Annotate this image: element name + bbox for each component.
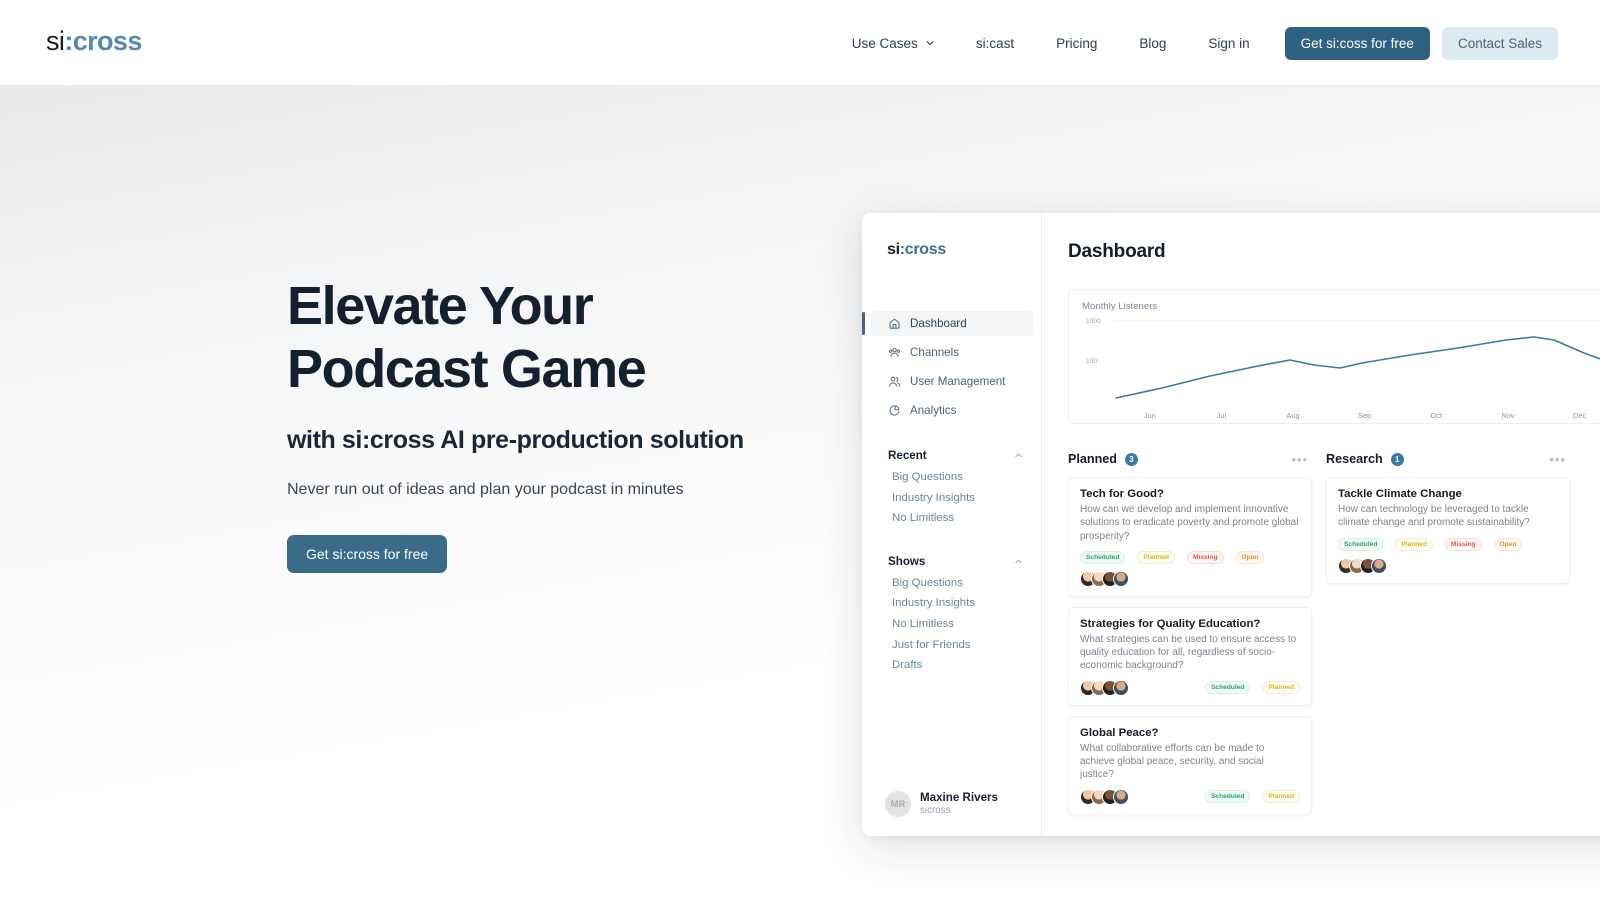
chart-line-svg — [1114, 320, 1600, 408]
more-options-icon[interactable]: ••• — [1291, 453, 1308, 466]
tag-scheduled: Scheduled — [1080, 551, 1125, 564]
chevron-down-icon — [925, 38, 934, 47]
tag-scheduled: Scheduled — [1205, 681, 1250, 694]
user-org: sicross — [920, 805, 998, 818]
mockup-logo-si: si — [887, 241, 900, 258]
logo-text-colon: : — [64, 26, 72, 56]
list-item[interactable]: Tackle Climate Change How can technology… — [1326, 477, 1570, 584]
logo-text-cross: cross — [73, 26, 142, 56]
list-item[interactable]: Industry Insights — [862, 593, 1041, 614]
chart-xtick: Oct — [1401, 411, 1473, 420]
card-title: Tackle Climate Change — [1338, 488, 1558, 500]
list-item[interactable]: Drafts — [862, 655, 1041, 676]
mockup-main-content: Dashboard Monthly Listeners 1000 100 Jun… — [1042, 213, 1600, 836]
avatar-group — [1080, 571, 1124, 587]
sidebar-section-recent-header[interactable]: Recent — [862, 449, 1041, 462]
list-item[interactable]: Global Peace? What collaborative efforts… — [1068, 716, 1312, 815]
sidebar-item-user-management[interactable]: User Management — [871, 369, 1033, 394]
contact-sales-button[interactable]: Contact Sales — [1442, 27, 1558, 60]
sidebar-item-channels[interactable]: Channels — [871, 340, 1033, 365]
status-badge: 1 — [1391, 453, 1404, 466]
mockup-sidebar-nav: Dashboard Channels User Management — [862, 311, 1041, 423]
hero-get-for-free-button[interactable]: Get si:cross for free — [287, 535, 447, 573]
nav-item-label: Use Cases — [852, 36, 918, 51]
nav-item-blog[interactable]: Blog — [1118, 0, 1187, 86]
top-navigation-bar: si:cross Use Cases si:cast Pricing Blog … — [0, 0, 1600, 86]
tag-planned: Planned — [1395, 538, 1433, 551]
list-item[interactable]: Big Questions — [862, 573, 1041, 594]
sidebar-item-analytics[interactable]: Analytics — [871, 398, 1033, 423]
chevron-up-icon — [1014, 557, 1023, 566]
sidebar-section-title: Shows — [888, 555, 925, 568]
card-title: Strategies for Quality Education? — [1080, 618, 1300, 630]
sidebar-section-shows-header[interactable]: Shows — [862, 555, 1041, 568]
pie-chart-icon — [888, 404, 901, 417]
dashboard-title: Dashboard — [1042, 241, 1600, 263]
chart-ytick-1000: 1000 — [1086, 318, 1101, 325]
card-tags: Scheduled Planned Missing Open — [1338, 538, 1558, 551]
list-item[interactable]: Strategies for Quality Education? What s… — [1068, 607, 1312, 706]
board-column-research: Research 1 ••• Tackle Climate Change How… — [1326, 452, 1570, 825]
nav-item-use-cases[interactable]: Use Cases — [831, 0, 955, 86]
logo-text-si: si — [46, 26, 64, 56]
mockup-logo-cross: cross — [905, 241, 946, 258]
nav-item-pricing[interactable]: Pricing — [1035, 0, 1118, 86]
nav-item-sign-in[interactable]: Sign in — [1187, 0, 1270, 86]
column-title: Research — [1326, 452, 1383, 466]
monthly-listeners-chart: Monthly Listeners 1000 100 Jun Jul Aug S… — [1068, 289, 1600, 424]
sidebar-item-label: Channels — [910, 346, 959, 359]
mockup-logo[interactable]: si:cross — [862, 241, 1041, 259]
card-title: Tech for Good? — [1080, 488, 1300, 500]
sidebar-section-title: Recent — [888, 449, 927, 462]
card-footer — [1338, 558, 1558, 574]
list-item[interactable]: No Limitless — [862, 614, 1041, 635]
list-item[interactable]: Industry Insights — [862, 488, 1041, 509]
avatar — [1371, 558, 1387, 574]
chart-xtick: Sep — [1329, 411, 1401, 420]
channels-icon — [888, 346, 901, 359]
nav-item-label: Pricing — [1056, 36, 1097, 51]
card-description: How can we develop and implement innovat… — [1080, 503, 1300, 543]
column-title: Planned — [1068, 452, 1117, 466]
hero-description: Never run out of ideas and plan your pod… — [287, 481, 847, 499]
status-badge: 3 — [1125, 453, 1138, 466]
tag-scheduled: Scheduled — [1205, 790, 1250, 803]
nav-item-label: si:cast — [976, 36, 1014, 51]
nav-links: Use Cases si:cast Pricing Blog Sign in G… — [831, 0, 1558, 86]
tag-planned: Planned — [1137, 551, 1175, 564]
tag-open: Open — [1494, 538, 1523, 551]
nav-item-label: Blog — [1139, 36, 1166, 51]
users-icon — [888, 375, 901, 388]
card-footer: Scheduled Planned — [1080, 789, 1300, 805]
avatar: MR — [885, 791, 911, 817]
sidebar-item-dashboard[interactable]: Dashboard — [871, 311, 1033, 336]
card-description: What collaborative efforts can be made t… — [1080, 742, 1300, 782]
chart-xtick-labels: Jun Jul Aug Sep Oct Nov Dec Jan — [1114, 411, 1600, 420]
landing-page: si:cross Use Cases si:cast Pricing Blog … — [0, 0, 1600, 900]
card-footer — [1080, 571, 1300, 587]
avatar-group — [1080, 680, 1124, 696]
tag-missing: Missing — [1187, 551, 1224, 564]
more-options-icon[interactable]: ••• — [1549, 453, 1566, 466]
hero-subtitle: with si:cross AI pre-production solution — [287, 426, 847, 455]
sidebar-item-label: User Management — [910, 375, 1005, 388]
mockup-sidebar: si:cross Dashboard Channels — [862, 213, 1042, 836]
get-for-free-button[interactable]: Get si:coss for free — [1285, 27, 1430, 60]
card-tags: Scheduled Planned Missing Open — [1080, 551, 1300, 564]
list-item[interactable]: Just for Friends — [862, 635, 1041, 656]
dashboard-mockup: si:cross Dashboard Channels — [862, 213, 1600, 836]
kanban-boards: Planned 3 ••• Tech for Good? How can we … — [1042, 424, 1600, 825]
sidebar-user-profile[interactable]: MR Maxine Rivers sicross — [862, 791, 1041, 818]
column-header: Research 1 ••• — [1326, 452, 1570, 466]
chart-xtick: Jul — [1186, 411, 1258, 420]
nav-item-sicast[interactable]: si:cast — [955, 0, 1035, 86]
card-tags: Scheduled Planned — [1205, 681, 1300, 694]
tag-planned: Planned — [1262, 681, 1300, 694]
chevron-up-icon — [1014, 451, 1023, 460]
card-title: Global Peace? — [1080, 727, 1300, 739]
hero-title-line-2: Podcast Game — [287, 339, 645, 399]
avatar — [1113, 789, 1129, 805]
chart-title: Monthly Listeners — [1082, 301, 1600, 312]
column-header: Planned 3 ••• — [1068, 452, 1312, 466]
card-description: What strategies can be used to ensure ac… — [1080, 633, 1300, 673]
chart-xtick: Nov — [1472, 411, 1544, 420]
list-item[interactable]: Big Questions — [862, 467, 1041, 488]
card-footer: Scheduled Planned — [1080, 680, 1300, 696]
chart-plot-area: 1000 100 Jun Jul Aug Sep Oct Nov Dec — [1082, 316, 1600, 416]
home-icon — [888, 317, 901, 330]
nav-item-label: Sign in — [1208, 36, 1249, 51]
list-item[interactable]: Tech for Good? How can we develop and im… — [1068, 477, 1312, 597]
user-name: Maxine Rivers — [920, 791, 998, 805]
board-column-planned: Planned 3 ••• Tech for Good? How can we … — [1068, 452, 1312, 825]
sidebar-item-label: Dashboard — [910, 317, 967, 330]
tag-scheduled: Scheduled — [1338, 538, 1383, 551]
avatar-group — [1338, 558, 1382, 574]
chart-xtick: Dec — [1544, 411, 1600, 420]
chart-ytick-100: 100 — [1086, 358, 1097, 365]
site-logo[interactable]: si:cross — [46, 28, 142, 55]
hero-title-line-1: Elevate Your — [287, 276, 592, 336]
tag-planned: Planned — [1262, 790, 1300, 803]
card-tags: Scheduled Planned — [1205, 790, 1300, 803]
tag-open: Open — [1236, 551, 1265, 564]
sidebar-item-label: Analytics — [910, 404, 956, 417]
avatar — [1113, 571, 1129, 587]
avatar — [1113, 680, 1129, 696]
card-description: How can technology be leveraged to tackl… — [1338, 503, 1558, 530]
tag-missing: Missing — [1445, 538, 1482, 551]
avatar-group — [1080, 789, 1124, 805]
list-item[interactable]: No Limitless — [862, 508, 1041, 529]
chart-xtick: Jun — [1114, 411, 1186, 420]
page-title: Elevate Your Podcast Game — [287, 275, 847, 400]
chart-xtick: Aug — [1257, 411, 1329, 420]
hero-section: Elevate Your Podcast Game with si:cross … — [287, 275, 847, 573]
